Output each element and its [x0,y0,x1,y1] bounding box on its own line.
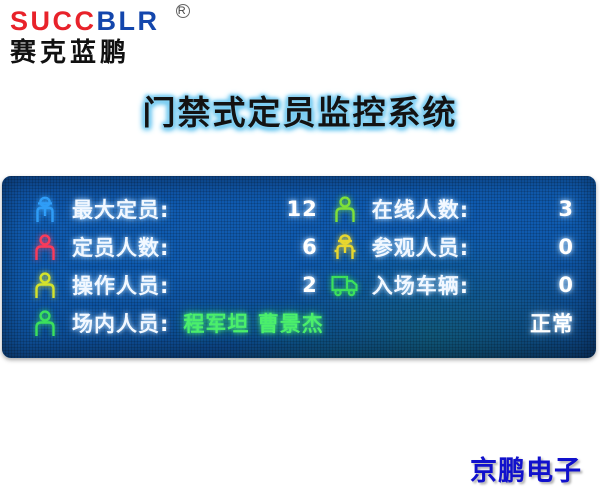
readout-value: 0 [469,235,580,259]
person-hat-icon [30,194,60,224]
led-display-panel: 最大定员: 12 在线人数: 3 定员人数: 6 [2,176,596,358]
readout-row-visitor-count: 参观人员: 0 [330,228,580,266]
readout-label: 定员人数: [72,232,169,262]
readout-row-max-capacity: 最大定员: 12 [30,190,324,228]
readout-row-operator-count: 操作人员: 2 [30,266,324,304]
person-hat-icon [330,232,360,262]
readout-row-vehicle-count: 入场车辆: 0 [330,266,580,304]
page-title: 门禁式定员监控系统 [0,86,600,134]
readout-value: 3 [469,197,580,221]
readout-label: 操作人员: [72,270,169,300]
person-icon [30,308,60,338]
readout-label: 参观人员: [372,232,469,262]
readout-value: 0 [469,273,580,297]
readout-value: 12 [169,197,323,221]
brand-latin-red: SUCC [10,6,97,36]
brand-latin-blue: BLR [97,6,160,36]
readout-value: 6 [169,235,323,259]
person-icon [330,194,360,224]
readout-label: 最大定员: [72,194,169,224]
person-icon [30,232,60,262]
readout-row-online-count: 在线人数: 3 [330,190,580,228]
readout-label: 场内人员: [72,308,169,338]
readout-row-onsite-personnel: 场内人员: 程军坦 曹景杰 [30,304,324,342]
brand-chinese-name: 赛克蓝鹏 [8,37,238,69]
brand-logo: SUCCBLR R 赛克蓝鹏 [8,6,238,72]
readout-label: 入场车辆: [372,270,469,300]
footer-company-logo: 京鹏电子 [470,449,582,488]
brand-latin-wordmark: SUCCBLR R [8,6,238,36]
person-icon [30,270,60,300]
truck-icon [330,270,360,300]
status-badge: 正常 [330,308,580,338]
readout-value: 2 [169,273,323,297]
readout-row-system-status: 正常 [330,304,580,342]
onsite-personnel-names: 程军坦 曹景杰 [169,308,323,338]
readout-row-assigned-count: 定员人数: 6 [30,228,324,266]
led-readout-grid: 最大定员: 12 在线人数: 3 定员人数: 6 [2,176,596,352]
registered-trademark-icon: R [176,4,190,18]
readout-label: 在线人数: [372,194,469,224]
